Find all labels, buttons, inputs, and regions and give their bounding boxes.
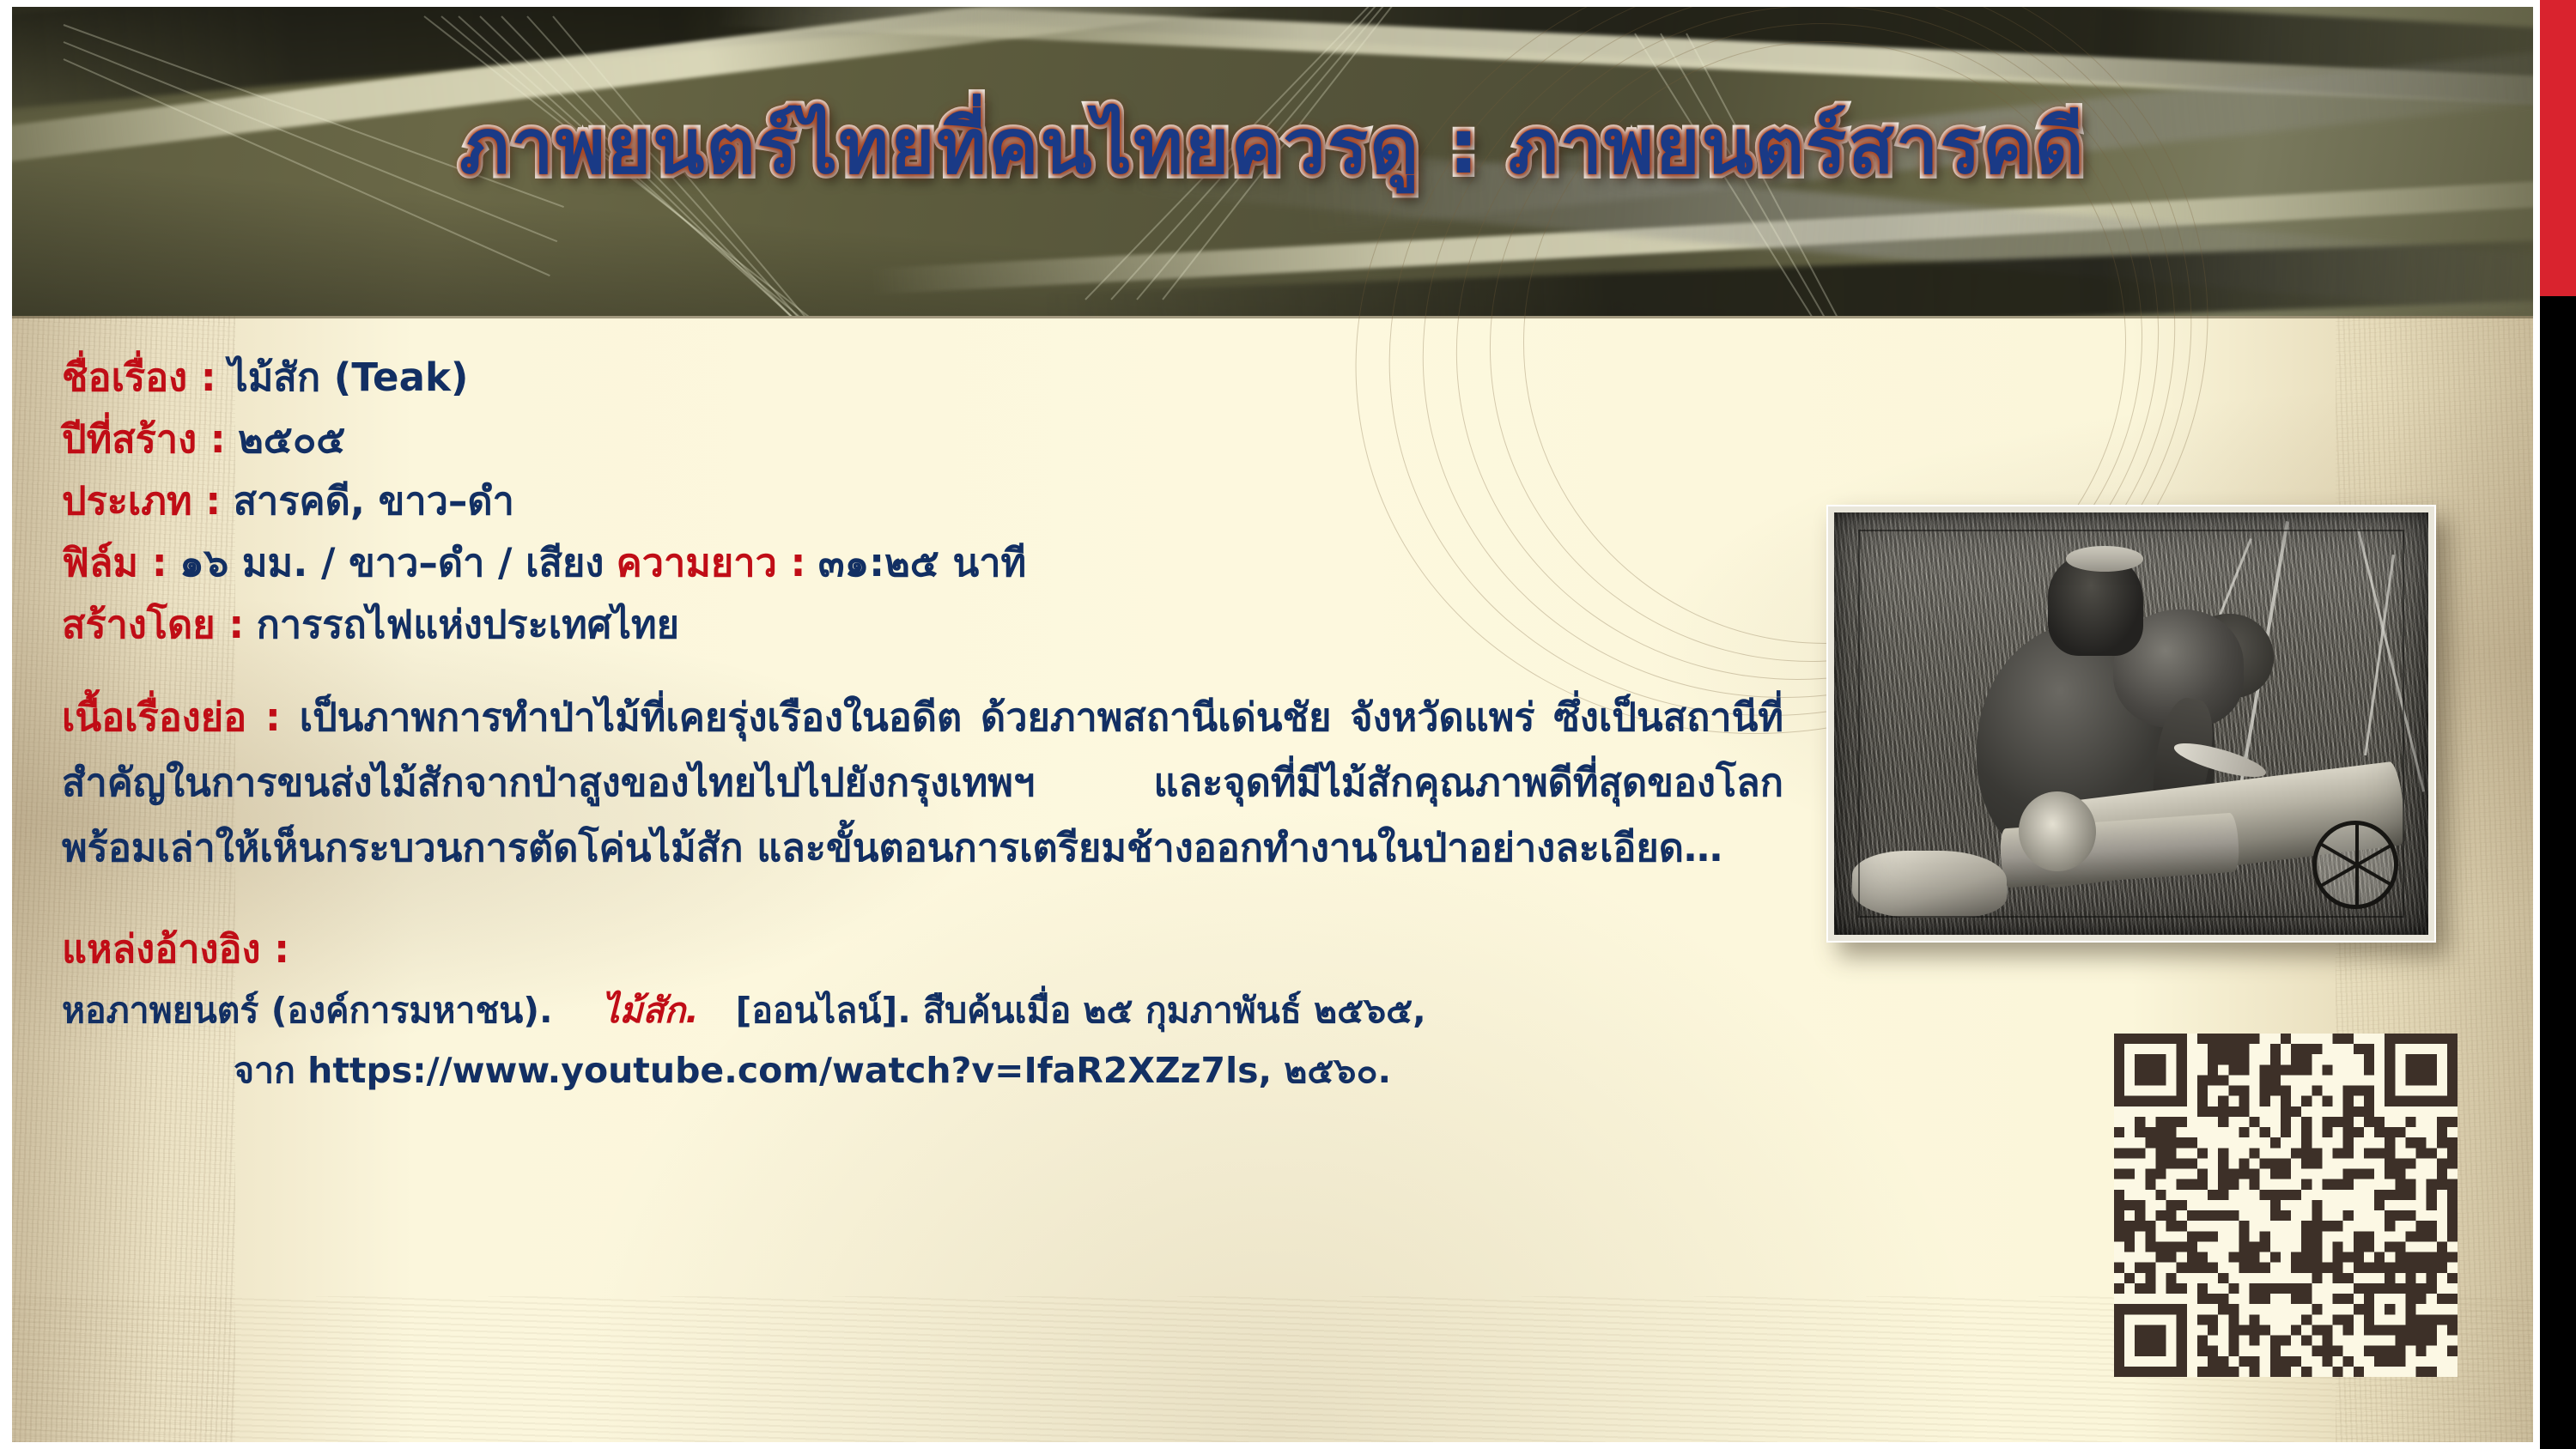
paper-top-rule	[12, 316, 2533, 318]
field-film-value: ๑๖ มม. / ขาว–ดำ / เสียง	[179, 540, 604, 585]
side-bar-red	[2540, 0, 2576, 296]
reference-author: หอภาพยนตร์ (องค์การมหาชน).	[62, 990, 553, 1031]
side-bar-black	[2540, 296, 2576, 1449]
field-title: ชื่อเรื่อง : ไม้สัก (Teak)	[62, 347, 1796, 409]
field-year: ปีที่สร้าง : ๒๕๐๕	[62, 409, 1796, 470]
spacer	[62, 656, 1796, 685]
field-category-label: ประเภท :	[62, 478, 221, 524]
field-producer: สร้างโดย : การรถไฟแห่งประเทศไทย	[62, 594, 1796, 656]
banner-title: ภาพยนตร์ไทยที่คนไทยควรดู : ภาพยนตร์สารคด…	[12, 86, 2533, 206]
field-year-label: ปีที่สร้าง :	[62, 416, 226, 462]
banner: ภาพยนตร์ไทยที่คนไทยควรดู : ภาพยนตร์สารคด…	[12, 7, 2533, 316]
field-title-label: ชื่อเรื่อง :	[62, 355, 216, 400]
reference-line-2[interactable]: จาก https://www.youtube.com/watch?v=IfaR…	[62, 1040, 1796, 1100]
info-block: ชื่อเรื่อง : ไม้สัก (Teak) ปีที่สร้าง : …	[62, 347, 1796, 1100]
photo-vignette	[1834, 512, 2428, 935]
film-still-photo	[1826, 505, 2436, 943]
poster: ภาพยนตร์ไทยที่คนไทยควรดู : ภาพยนตร์สารคด…	[0, 0, 2576, 1449]
field-category-value: สารคดี, ขาว–ดำ	[234, 478, 514, 524]
qr-code[interactable]	[2114, 1034, 2458, 1377]
field-film-label: ฟิล์ม :	[62, 540, 167, 585]
field-producer-label: สร้างโดย :	[62, 602, 244, 647]
field-year-value: ๒๕๐๕	[238, 416, 345, 462]
field-duration-label: ความยาว :	[617, 540, 806, 585]
reference-url[interactable]: จาก https://www.youtube.com/watch?v=IfaR…	[234, 1050, 1391, 1091]
photo-inner	[1834, 512, 2428, 935]
synopsis: เนื้อเรื่องย่อ : เป็นภาพการทำป่าไม้ที่เค…	[62, 685, 1783, 881]
reference-label: แหล่งอ้างอิง :	[62, 926, 289, 972]
synopsis-text: เป็นภาพการทำป่าไม้ที่เคยรุ่งเรืองในอดีต …	[62, 694, 1783, 870]
synopsis-label: เนื้อเรื่องย่อ :	[62, 694, 281, 740]
reference-heading: แหล่งอ้างอิง :	[62, 919, 1796, 980]
reference-line-1: หอภาพยนตร์ (องค์การมหาชน). ไม้สัก. [ออนไ…	[62, 980, 1796, 1040]
reference-work-title: ไม้สัก.	[602, 990, 699, 1031]
poster-card: ภาพยนตร์ไทยที่คนไทยควรดู : ภาพยนตร์สารคด…	[12, 7, 2533, 1442]
field-title-value: ไม้สัก (Teak)	[228, 355, 468, 400]
field-producer-value: การรถไฟแห่งประเทศไทย	[257, 602, 679, 647]
reference-retrieved: [ออนไลน์]. สืบค้นเมื่อ ๒๕ กุมภาพันธ์ ๒๕๖…	[736, 990, 1426, 1031]
field-film: ฟิล์ม : ๑๖ มม. / ขาว–ดำ / เสียง ความยาว …	[62, 532, 1796, 594]
field-duration-value: ๓๑:๒๕ นาที	[818, 540, 1026, 585]
field-category: ประเภท : สารคดี, ขาว–ดำ	[62, 470, 1796, 532]
